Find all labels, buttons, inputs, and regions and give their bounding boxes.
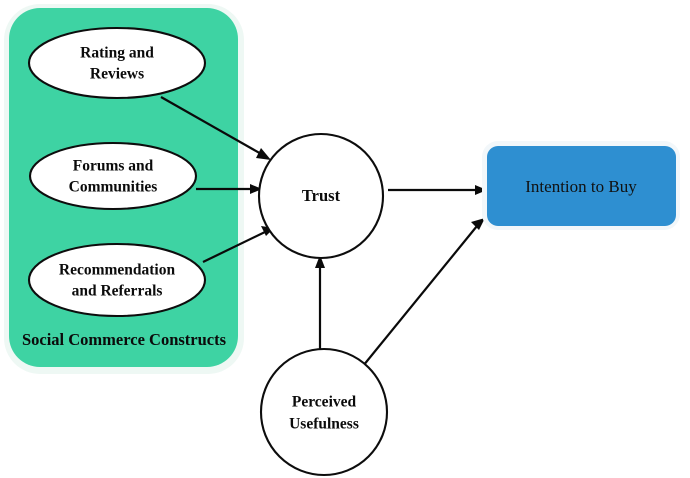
node-recommendation-and-referrals[interactable]: Recommendation and Referrals bbox=[29, 244, 205, 316]
node-rating-and-reviews-line2: Reviews bbox=[90, 66, 144, 83]
node-forums-and-communities-line2: Communities bbox=[69, 179, 158, 196]
diagram-canvas: Rating and Reviews Forums and Communitie… bbox=[0, 0, 690, 478]
node-perceived-usefulness[interactable]: Perceived Usefulness bbox=[261, 349, 387, 475]
node-perceived-usefulness-line2: Usefulness bbox=[289, 416, 359, 433]
edge-usefulness-to-intention bbox=[363, 218, 485, 366]
group-label-social-commerce-constructs: Social Commerce Constructs bbox=[22, 330, 227, 349]
node-intention-to-buy[interactable]: Intention to Buy bbox=[482, 141, 680, 230]
node-trust-label: Trust bbox=[302, 186, 341, 205]
node-rating-and-reviews-line1: Rating and bbox=[80, 45, 154, 62]
node-forums-and-communities-line1: Forums and bbox=[73, 158, 154, 175]
node-recommendation-and-referrals-line1: Recommendation bbox=[59, 262, 176, 279]
node-perceived-usefulness-line1: Perceived bbox=[292, 394, 357, 411]
edge-usefulness-to-trust bbox=[315, 255, 325, 351]
edge-trust-to-intention bbox=[388, 185, 487, 195]
node-intention-to-buy-label: Intention to Buy bbox=[525, 177, 637, 196]
research-model-diagram: Rating and Reviews Forums and Communitie… bbox=[0, 0, 690, 478]
node-trust[interactable]: Trust bbox=[259, 134, 383, 258]
node-forums-and-communities[interactable]: Forums and Communities bbox=[30, 143, 196, 209]
node-recommendation-and-referrals-line2: and Referrals bbox=[72, 283, 163, 300]
node-rating-and-reviews[interactable]: Rating and Reviews bbox=[29, 28, 205, 98]
